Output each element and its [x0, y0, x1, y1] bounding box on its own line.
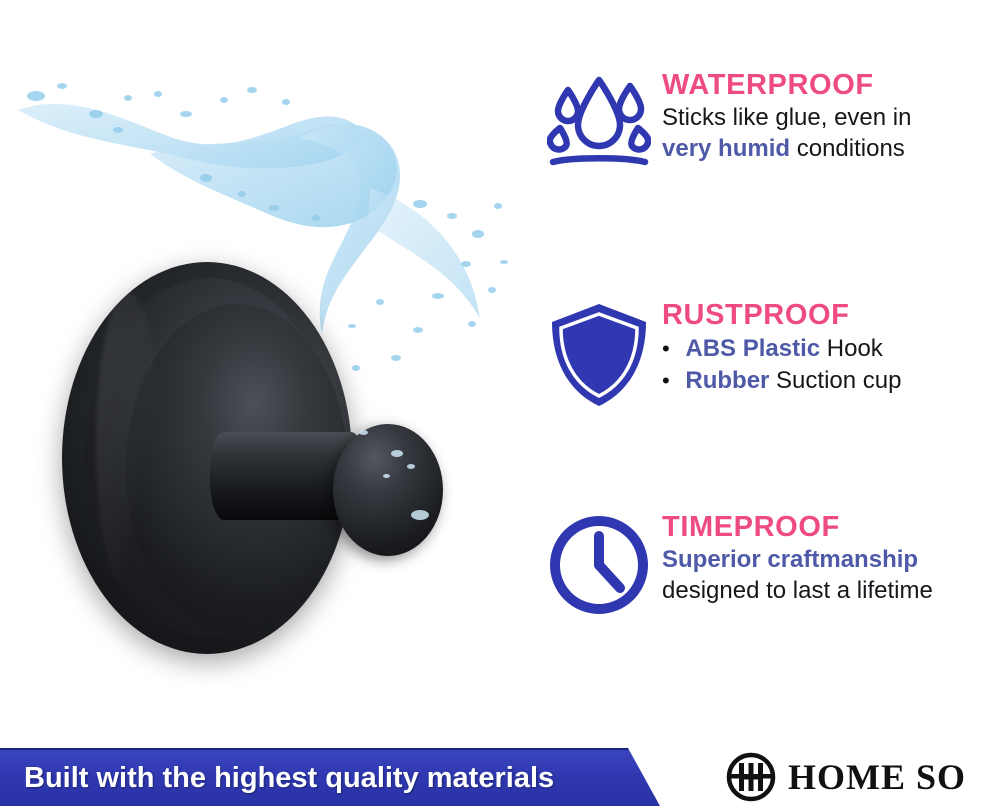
feature-waterproof: WATERPROOF Sticks like glue, even in ver…	[540, 70, 911, 170]
hook-knob	[333, 424, 443, 556]
brand-logo: HOME SO	[726, 750, 966, 804]
product-image	[0, 0, 545, 730]
hook-base-highlight	[96, 292, 160, 592]
feature-keyword: Superior craftmanship	[662, 546, 918, 573]
bottom-banner: Built with the highest quality materials	[0, 748, 660, 806]
feature-line-1: Superior craftmanship	[662, 545, 933, 575]
feature-bullet-list: ABS Plastic Hook Rubber Suction cup	[662, 333, 901, 395]
clock-icon	[540, 512, 658, 618]
logo-text: HOME SO	[788, 756, 966, 798]
feature-line-2-text: designed to last a lifetime	[662, 577, 933, 604]
infographic-canvas: WATERPROOF Sticks like glue, even in ver…	[0, 0, 1000, 811]
feature-line-2: very humid conditions	[662, 134, 911, 164]
bullet-text: Hook	[820, 335, 883, 362]
water-drops-icon	[540, 70, 658, 170]
list-item: Rubber Suction cup	[662, 365, 901, 396]
shield-icon	[540, 300, 658, 410]
feature-timeproof: TIMEPROOF Superior craftmanship designed…	[540, 512, 933, 618]
bullet-text: Suction cup	[769, 367, 901, 394]
home-so-monogram-icon	[726, 752, 776, 802]
bullet-keyword: ABS Plastic	[685, 335, 820, 362]
feature-line-2: designed to last a lifetime	[662, 576, 933, 606]
banner-text: Built with the highest quality materials	[0, 762, 554, 795]
bullet-keyword: Rubber	[685, 367, 769, 394]
feature-keyword: very humid	[662, 135, 790, 162]
feature-title: RUSTPROOF	[662, 300, 901, 330]
feature-line-2-text: conditions	[790, 135, 905, 162]
feature-title: TIMEPROOF	[662, 512, 933, 542]
feature-rustproof: RUSTPROOF ABS Plastic Hook Rubber Suctio…	[540, 300, 901, 410]
feature-line-1: Sticks like glue, even in	[662, 103, 911, 133]
list-item: ABS Plastic Hook	[662, 333, 901, 364]
feature-title: WATERPROOF	[662, 70, 911, 100]
feature-line-1-text: Sticks like glue, even in	[662, 104, 911, 131]
